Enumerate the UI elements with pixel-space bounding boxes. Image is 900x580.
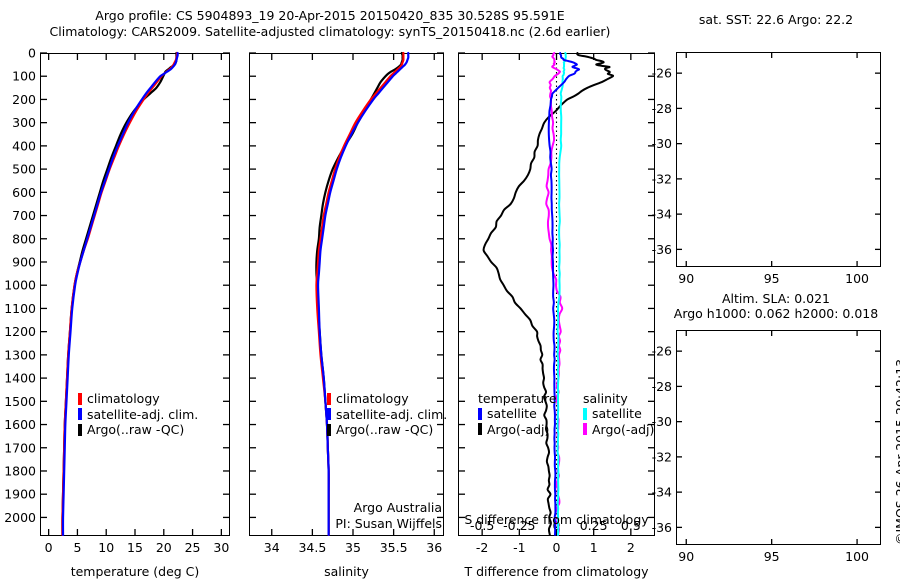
svg-text:90: 90 (678, 549, 694, 564)
imos-watermark: ©IMOS 26-Apr-2015 20:42:13 (893, 359, 900, 545)
sla-map-axes: 9095100-26-28-30-32-34-36 (0, 0, 900, 580)
svg-text:95: 95 (764, 549, 780, 564)
svg-text:-36: -36 (652, 520, 672, 535)
svg-text:-34: -34 (652, 485, 672, 500)
svg-text:-32: -32 (652, 449, 672, 464)
argo-profile-figure: Argo profile: CS 5904893_19 20-Apr-2015 … (0, 0, 900, 580)
svg-text:-28: -28 (652, 379, 672, 394)
svg-text:-26: -26 (652, 344, 672, 359)
svg-text:-30: -30 (652, 414, 672, 429)
svg-text:100: 100 (845, 549, 869, 564)
